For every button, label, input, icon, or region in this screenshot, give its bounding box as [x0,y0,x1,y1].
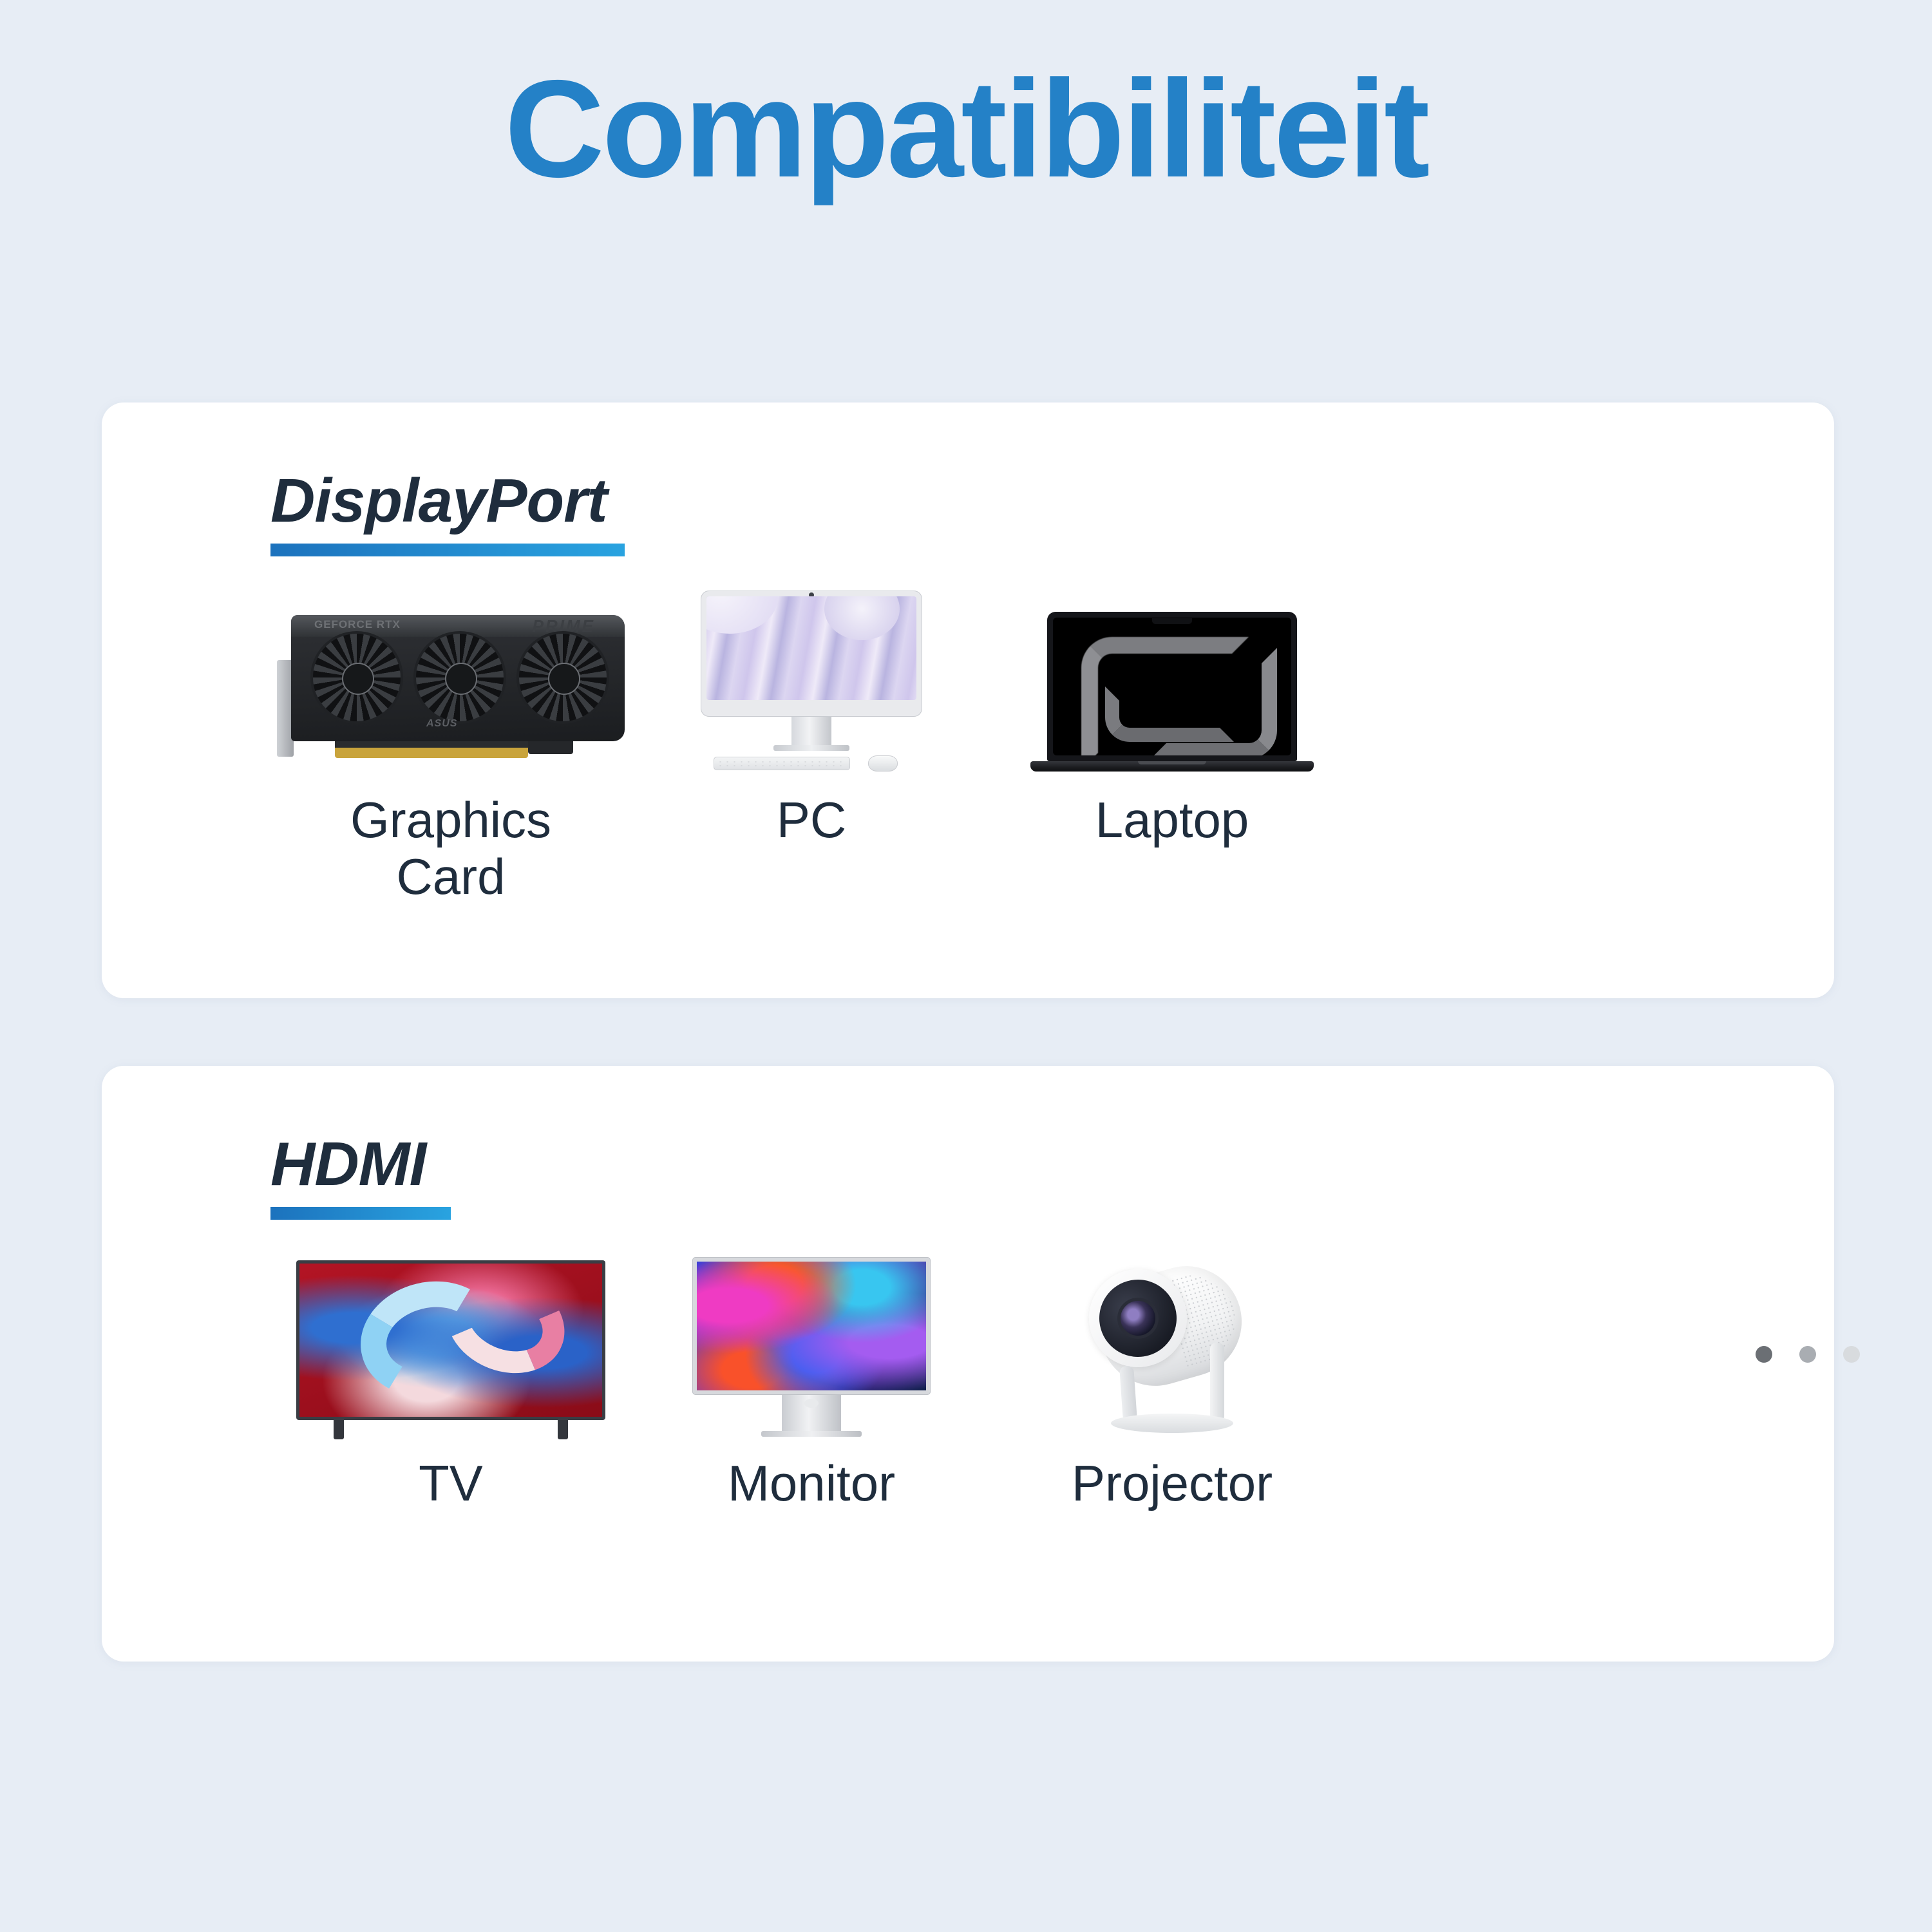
device-item-tv[interactable]: TV [270,1253,631,1511]
projector-icon [992,1253,1352,1439]
device-list-displayport: GEFORCE RTX PRIME ASUS Graphics Card [270,589,1443,905]
device-item-graphics-card[interactable]: GEFORCE RTX PRIME ASUS Graphics Card [270,589,631,905]
gpu-pcie-connector [335,741,528,758]
compatibility-card-hdmi: HDMI TV [102,1066,1834,1662]
projector-lens-ring [1090,1271,1186,1366]
section-header-hdmi: HDMI [270,1133,451,1220]
desktop-pc-icon [631,589,992,776]
device-list-hdmi: TV Monitor [270,1253,1443,1511]
monitor-panel [692,1257,931,1395]
device-label-graphics-card: Graphics Card [350,791,551,905]
projector-stand-arm-right [1210,1343,1224,1423]
gpu-fan-left [310,631,403,724]
tv-foot-right [558,1420,568,1439]
section-underline-displayport [270,544,625,556]
pagination-dot-1[interactable] [1756,1346,1772,1363]
gpu-fan-center [413,631,506,724]
television-icon [270,1253,631,1439]
graphics-card-icon: GEFORCE RTX PRIME ASUS [270,589,631,776]
laptop-camera-notch [1152,618,1192,624]
pagination[interactable] [1756,1346,1860,1363]
gpu-pcie-tab [528,741,573,754]
device-item-pc[interactable]: PC [631,589,992,905]
imac-stand-neck [791,717,831,745]
device-item-laptop[interactable]: Laptop [992,589,1352,905]
pagination-dot-2[interactable] [1799,1346,1816,1363]
gpu-fan-right [516,631,609,724]
section-title-displayport: DisplayPort [270,470,625,532]
laptop-wallpaper-maze [1105,687,1234,742]
gpu-bottom-logo: ASUS [426,718,457,730]
pagination-dot-3[interactable] [1843,1346,1860,1363]
tv-wallpaper [299,1264,602,1417]
projector-stand-base [1111,1414,1233,1433]
imac-keyboard-keys [717,760,847,767]
monitor-icon [631,1253,992,1439]
projector-lens [1117,1297,1160,1340]
device-item-projector[interactable]: Projector [992,1253,1352,1511]
gpu-body: GEFORCE RTX PRIME ASUS [291,615,625,741]
device-label-projector: Projector [1072,1455,1273,1511]
laptop-icon [992,589,1352,776]
device-item-monitor[interactable]: Monitor [631,1253,992,1511]
imac-display [701,591,922,717]
device-label-pc: PC [777,791,846,848]
section-title-hdmi: HDMI [270,1133,451,1195]
gpu-brand-text: GEFORCE RTX [314,618,401,631]
monitor-stand-foot [761,1431,862,1437]
tv-foot-left [334,1420,344,1439]
imac-wallpaper [706,596,916,700]
imac-keyboard [714,757,850,770]
device-label-monitor: Monitor [728,1455,895,1511]
section-underline-hdmi [270,1207,451,1220]
monitor-stand-neck [782,1395,841,1431]
imac-mouse [868,755,898,772]
monitor-wallpaper [697,1262,926,1390]
compatibility-card-displayport: DisplayPort GEFORCE RTX PRIME ASUS [102,402,1834,998]
device-label-laptop: Laptop [1095,791,1249,848]
laptop-lid [1047,612,1297,761]
page-title: Compatibiliteit [0,59,1932,198]
tv-panel [296,1260,605,1420]
laptop-front-notch [1138,761,1206,764]
imac-stand-foot [773,745,849,751]
section-header-displayport: DisplayPort [270,470,625,556]
device-label-tv: TV [419,1455,483,1511]
laptop-wallpaper [1053,618,1291,755]
